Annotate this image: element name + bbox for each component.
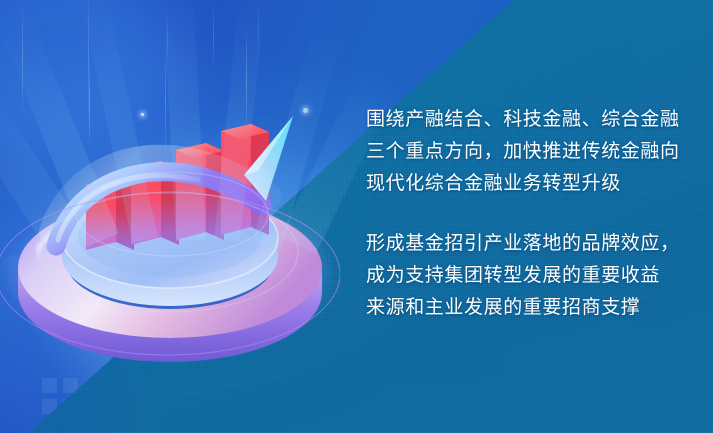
paragraph-2-line-1: 形成基金招引产业落地的品牌效应， — [366, 228, 696, 260]
banner-canvas: 围绕产融结合、科技金融、综合金融 三个重点方向，加快推进传统金融向 现代化综合金… — [0, 0, 713, 433]
text-block: 围绕产融结合、科技金融、综合金融 三个重点方向，加快推进传统金融向 现代化综合金… — [366, 104, 696, 324]
paragraph-2-line-3: 来源和主业发展的重要招商支撑 — [366, 292, 696, 324]
illustration-3d-growth-chart — [0, 0, 340, 433]
paragraph-1-line-1: 围绕产融结合、科技金融、综合金融 — [366, 104, 696, 136]
paragraph-2: 形成基金招引产业落地的品牌效应， 成为支持集团转型发展的重要收益 来源和主业发展… — [366, 228, 696, 324]
paragraph-2-line-2: 成为支持集团转型发展的重要收益 — [366, 260, 696, 292]
paragraph-1-line-3: 现代化综合金融业务转型升级 — [366, 168, 696, 200]
paragraph-1-line-2: 三个重点方向，加快推进传统金融向 — [366, 136, 696, 168]
paragraph-1: 围绕产融结合、科技金融、综合金融 三个重点方向，加快推进传统金融向 现代化综合金… — [366, 104, 696, 200]
